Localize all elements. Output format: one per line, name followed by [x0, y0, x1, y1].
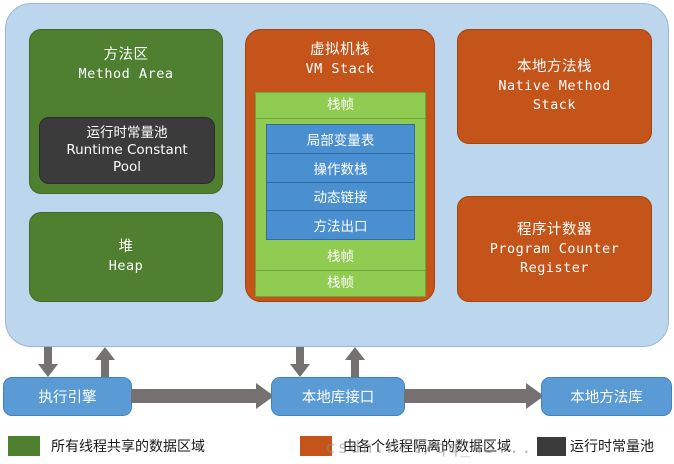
legend-swatch-shared — [8, 436, 40, 456]
stack-frame: 栈帧 — [256, 93, 425, 119]
runtime-constant-pool-title-en-line1: Runtime Constant — [66, 142, 187, 159]
pc-register-title-en-line1: Program Counter — [490, 240, 619, 259]
legend-item-shared: 所有线程共享的数据区域 — [8, 436, 205, 456]
runtime-constant-pool-title-en-line2: Pool — [113, 159, 141, 176]
flow-box-execution-engine[interactable]: 执行引擎 — [3, 377, 132, 416]
native-method-stack-title-cn: 本地方法栈 — [517, 58, 592, 77]
heap-title-en: Heap — [109, 257, 144, 276]
stack-frame: 栈帧 — [256, 271, 425, 296]
flow-box-native-library-interface[interactable]: 本地库接口 — [271, 377, 405, 416]
region-method-area: 方法区 Method Area 运行时常量池 Runtime Constant … — [29, 29, 223, 194]
runtime-constant-pool-title-cn: 运行时常量池 — [87, 125, 168, 142]
runtime-data-area: 方法区 Method Area 运行时常量池 Runtime Constant … — [5, 3, 669, 347]
region-vm-stack: 虚拟机栈 VM Stack 栈帧 局部变量表 操作数栈 动态链接 方法出口 栈帧… — [245, 29, 435, 302]
stack-frame: 栈帧 — [256, 245, 425, 271]
region-runtime-constant-pool: 运行时常量池 Runtime Constant Pool — [39, 117, 215, 184]
legend-swatch-isolated — [300, 436, 332, 456]
frame-part-method-exit: 方法出口 — [267, 211, 414, 239]
legend-label-isolated: 由各个线程隔离的数据区域 — [343, 436, 511, 456]
region-heap: 堆 Heap — [29, 212, 223, 302]
vm-stack-title-en: VM Stack — [305, 60, 374, 79]
arrow-right-exec-to-interface — [131, 383, 274, 409]
heap-title-cn: 堆 — [119, 238, 134, 257]
vm-stack-title-cn: 虚拟机栈 — [310, 41, 370, 60]
arrow-down-to-native-lib-interface — [290, 347, 310, 377]
flow-box-native-method-library[interactable]: 本地方法库 — [541, 377, 672, 416]
region-program-counter-register: 程序计数器 Program Counter Register — [457, 196, 652, 302]
pc-register-title-cn: 程序计数器 — [517, 221, 592, 240]
legend-swatch-runtime-constant-pool — [537, 437, 566, 456]
frame-part-operand-stack: 操作数栈 — [267, 154, 414, 183]
method-area-title-cn: 方法区 — [104, 46, 149, 65]
arrow-down-to-exec-engine — [38, 347, 58, 377]
arrow-up-from-exec-engine — [95, 347, 115, 377]
frame-part-local-variable-table: 局部变量表 — [267, 125, 414, 154]
stack-frame-detail-parts: 局部变量表 操作数栈 动态链接 方法出口 — [266, 124, 415, 240]
native-method-library-label: 本地方法库 — [570, 386, 643, 407]
arrow-up-from-native-lib-interface — [345, 347, 365, 377]
legend-label-runtime-constant-pool: 运行时常量池 — [570, 436, 654, 456]
legend-item-runtime-constant-pool: 运行时常量池 — [537, 436, 654, 456]
pc-register-title-en-line2: Register — [520, 259, 589, 278]
legend-label-shared: 所有线程共享的数据区域 — [51, 436, 205, 456]
stack-frame-detail: 局部变量表 操作数栈 动态链接 方法出口 — [256, 119, 425, 245]
arrow-right-interface-to-library — [404, 383, 544, 409]
stack-frame-list: 栈帧 局部变量表 操作数栈 动态链接 方法出口 栈帧 栈帧 — [255, 92, 426, 297]
legend-item-isolated: 由各个线程隔离的数据区域 — [300, 436, 511, 456]
native-library-interface-label: 本地库接口 — [302, 386, 375, 407]
native-method-stack-title-en-line1: Native Method — [498, 77, 610, 96]
region-native-method-stack: 本地方法栈 Native Method Stack — [457, 29, 652, 144]
execution-engine-label: 执行引擎 — [39, 386, 97, 407]
native-method-stack-title-en-line2: Stack — [533, 96, 576, 115]
method-area-title-en: Method Area — [79, 65, 174, 84]
legend: 所有线程共享的数据区域 由各个线程隔离的数据区域 运行时常量池 — [0, 432, 674, 464]
frame-part-dynamic-linking: 动态链接 — [267, 183, 414, 212]
